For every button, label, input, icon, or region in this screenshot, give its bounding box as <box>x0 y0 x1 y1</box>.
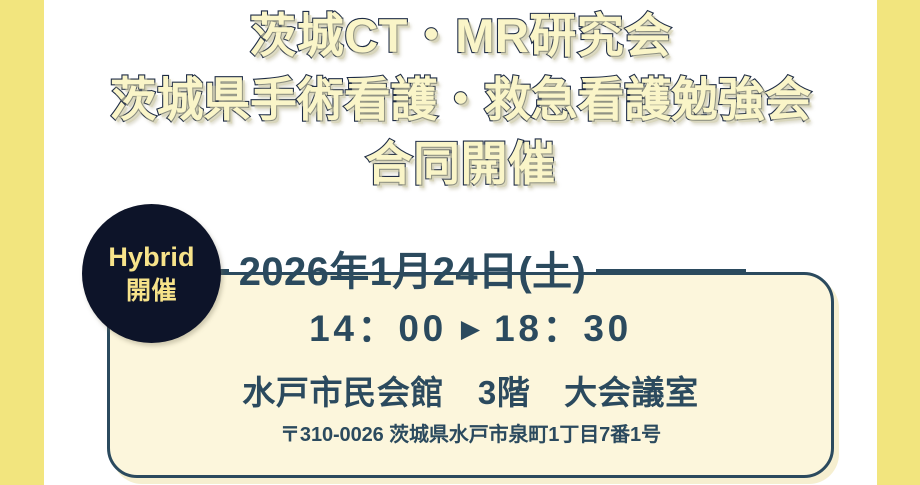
event-date: 2026年1月24日(土) <box>235 248 591 296</box>
event-info-panel <box>107 272 834 478</box>
title-line-2: 茨城県手術看護・救急看護勉強会 <box>44 69 877 131</box>
event-poster: 茨城CT・MR研究会 茨城県手術看護・救急看護勉強会 合同開催 2026年1月2… <box>0 0 920 485</box>
hybrid-badge-english-label: Hybrid <box>108 241 194 273</box>
hybrid-badge-japanese-label: 開催 <box>126 276 177 306</box>
poster-title-block: 茨城CT・MR研究会 茨城県手術看護・救急看護勉強会 合同開催 <box>44 0 877 195</box>
right-accent-bar <box>877 0 920 485</box>
title-line-1: 茨城CT・MR研究会 <box>44 5 877 67</box>
left-accent-bar <box>0 0 44 485</box>
hybrid-badge: Hybrid 開催 <box>82 204 221 343</box>
title-line-3: 合同開催 <box>44 133 877 195</box>
date-rule-right-icon <box>596 269 746 275</box>
